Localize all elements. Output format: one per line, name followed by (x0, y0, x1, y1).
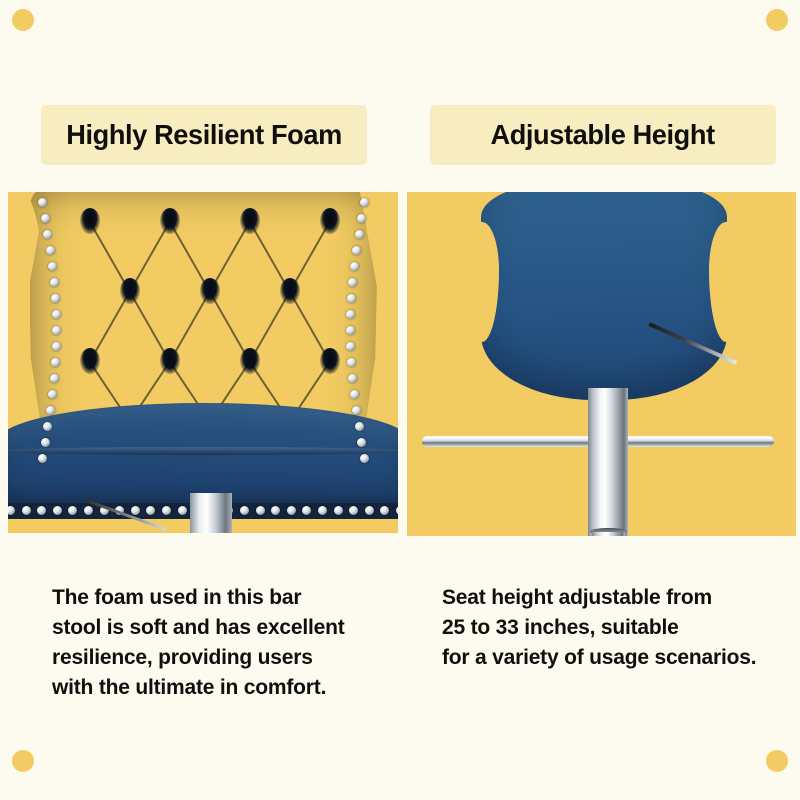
feature-title-banner-foam: Highly Resilient Foam (41, 105, 367, 165)
chrome-gas-lift-column (588, 388, 628, 536)
nailhead-stud (52, 310, 61, 319)
nailhead-stud (46, 406, 55, 415)
nailhead-stud (38, 198, 47, 207)
nailhead-stud (318, 506, 327, 515)
feature-title-banner-height: Adjustable Height (430, 105, 776, 165)
nailhead-stud (287, 506, 296, 515)
nailhead-stud (50, 278, 59, 287)
nailhead-stud (347, 294, 356, 303)
nailhead-stud (22, 506, 31, 515)
seat-welt-piping (8, 447, 398, 455)
nailhead-stud (256, 506, 265, 515)
nailhead-stud (380, 506, 389, 515)
feature-caption-foam: The foam used in this bar stool is soft … (52, 583, 382, 703)
nailhead-stud (396, 506, 398, 515)
chrome-column-partial (190, 493, 232, 533)
nailhead-stud (347, 358, 356, 367)
nailhead-stud (46, 246, 55, 255)
nailhead-stud (349, 506, 358, 515)
nailhead-stud (37, 506, 46, 515)
nailhead-stud (355, 422, 364, 431)
feature-title-foam: Highly Resilient Foam (66, 119, 342, 151)
nailhead-stud (53, 506, 62, 515)
nailhead-stud (334, 506, 343, 515)
feature-image-height (407, 192, 796, 536)
nailhead-stud (51, 294, 60, 303)
nailhead-stud (68, 506, 77, 515)
nailhead-stud (271, 506, 280, 515)
nailhead-stud (346, 326, 355, 335)
nailhead-stud (302, 506, 311, 515)
nailhead-stud (84, 506, 93, 515)
feature-panel-foam: Highly Resilient Foam The foam used in t… (4, 0, 398, 800)
nailhead-stud (50, 374, 59, 383)
nailhead-stud (178, 506, 187, 515)
nailhead-stud (48, 262, 57, 271)
column-overlap-mask (588, 432, 628, 452)
nailhead-stud (52, 326, 61, 335)
nailhead-stud (360, 454, 369, 463)
feature-panel-height: Adjustable Height Seat height adjustable… (402, 0, 796, 800)
nailhead-stud (41, 438, 50, 447)
feature-image-foam (8, 192, 398, 533)
feature-title-height: Adjustable Height (491, 119, 715, 151)
chrome-column-lower (592, 532, 625, 536)
nailhead-stud (162, 506, 171, 515)
nailhead-stud (8, 506, 15, 515)
nailhead-stud (52, 342, 61, 351)
nailhead-stud (146, 506, 155, 515)
feature-caption-height: Seat height adjustable from 25 to 33 inc… (442, 583, 792, 673)
seat-underside (481, 192, 727, 400)
nailhead-stud (48, 390, 57, 399)
nailhead-stud (51, 358, 60, 367)
nailhead-stud (240, 506, 249, 515)
nailhead-stud (38, 454, 47, 463)
nailhead-stud (41, 214, 50, 223)
nailhead-stud (131, 506, 140, 515)
nailhead-stud (355, 230, 364, 239)
nailhead-stud (365, 506, 374, 515)
nailhead-stud (360, 198, 369, 207)
infographic-page: Highly Resilient Foam The foam used in t… (0, 0, 800, 800)
